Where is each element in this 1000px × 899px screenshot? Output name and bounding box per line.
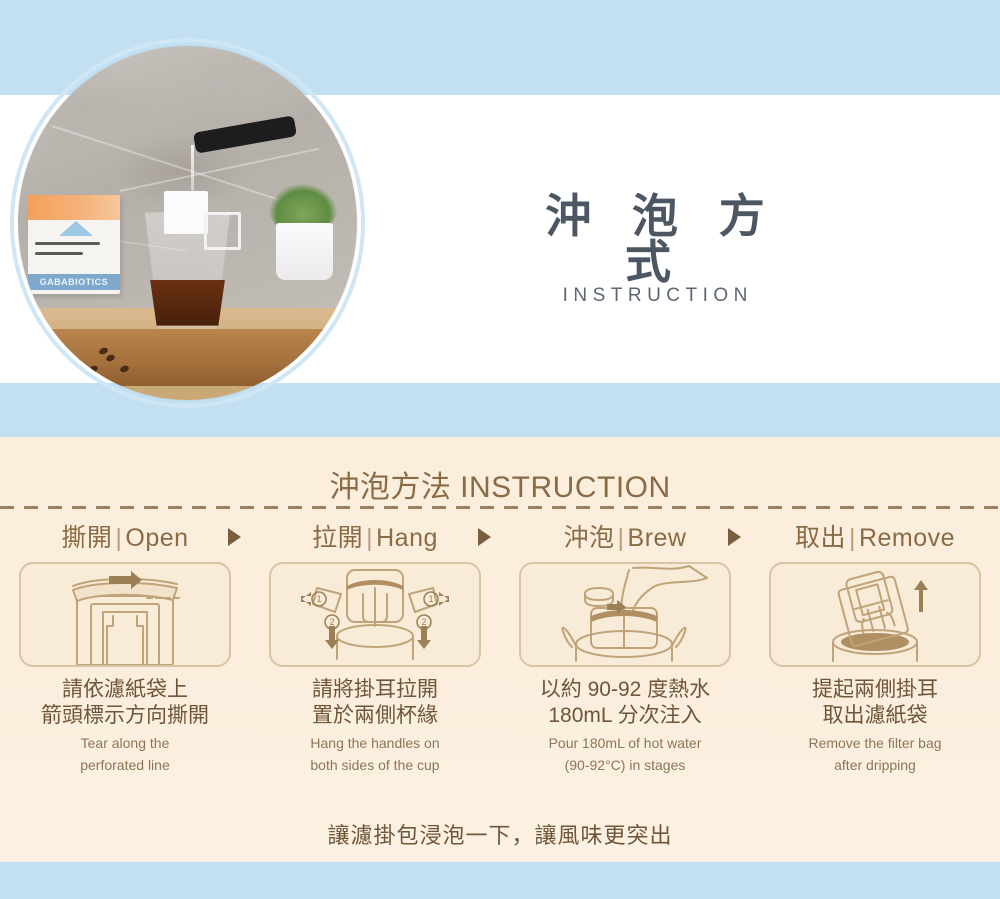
step-hang-caption-zh-1: 請將掛耳拉開	[310, 677, 439, 703]
step-hang: 拉開|Hang	[250, 518, 500, 808]
step-divider: |	[615, 524, 628, 552]
step-brew-header: 沖泡|Brew	[564, 518, 687, 558]
step-remove-caption-en-2: after dripping	[808, 756, 941, 774]
step-remove-label-zh: 取出	[795, 524, 846, 552]
tear-open-icon	[19, 562, 231, 667]
page-title: 沖 泡 方 式	[495, 193, 815, 285]
step-divider: |	[112, 524, 125, 552]
step-brew: 沖泡|Brew	[500, 518, 750, 808]
step-open-caption-en-2: perforated line	[41, 756, 209, 774]
step-open-caption: 請依濾紙袋上 箭頭標示方向撕開 Tear along the perforate…	[41, 677, 209, 774]
remove-bag-icon	[769, 562, 981, 667]
step-brew-caption-zh-1: 以約 90-92 度熱水	[540, 677, 710, 703]
step-brew-caption-en-1: Pour 180mL of hot water	[540, 734, 710, 752]
page-root: GABABIOTICS 沖 泡 方 式 INSTRUCTION 沖泡方法 INS…	[0, 0, 1000, 899]
hero-photo: GABABIOTICS	[10, 38, 365, 408]
step-hang-label-en: Hang	[376, 524, 438, 552]
step-open-label-en: Open	[125, 524, 188, 552]
step-remove-caption: 提起兩側掛耳 取出濾紙袋 Remove the filter bag after…	[808, 677, 941, 774]
step-brew-caption-en-2: (90-92°C) in stages	[540, 756, 710, 774]
hero-photo-ring	[10, 38, 365, 408]
step-hang-caption: 請將掛耳拉開 置於兩側杯緣 Hang the handles on both s…	[310, 677, 439, 774]
step-brew-caption: 以約 90-92 度熱水 180mL 分次注入 Pour 180mL of ho…	[540, 677, 710, 774]
svg-text:1: 1	[428, 594, 433, 604]
footer-note: 讓濾掛包浸泡一下，讓風味更突出	[0, 818, 1000, 850]
step-remove-label-en: Remove	[859, 524, 955, 552]
bottom-blue-band	[0, 862, 1000, 899]
step-brew-label-zh: 沖泡	[564, 524, 615, 552]
page-subtitle: INSTRUCTION	[495, 285, 815, 307]
step-open-caption-en-1: Tear along the	[41, 734, 209, 752]
step-open-label-zh: 撕開	[61, 524, 112, 552]
step-open-caption-zh-1: 請依濾紙袋上	[41, 677, 209, 703]
perforated-divider	[0, 506, 1000, 509]
step-hang-header: 拉開|Hang	[312, 518, 438, 558]
step-remove-caption-zh-2: 取出濾紙袋	[808, 703, 941, 729]
svg-text:2: 2	[329, 617, 334, 627]
step-hang-caption-en-1: Hang the handles on	[310, 734, 439, 752]
step-hang-label-zh: 拉開	[312, 524, 363, 552]
step-divider: |	[846, 524, 859, 552]
pour-water-icon	[519, 562, 731, 667]
step-remove: 取出|Remove	[750, 518, 1000, 808]
step-open: 撕開|Open 請依濾紙袋上	[0, 518, 250, 808]
step-divider: |	[363, 524, 376, 552]
instruction-heading: 沖泡方法 INSTRUCTION	[0, 462, 1000, 506]
step-brew-label-en: Brew	[628, 524, 687, 552]
hang-handles-icon: 11 22	[269, 562, 481, 667]
step-remove-caption-zh-1: 提起兩側掛耳	[808, 677, 941, 703]
steps-row: 撕開|Open 請依濾紙袋上	[0, 518, 1000, 808]
step-remove-header: 取出|Remove	[795, 518, 955, 558]
svg-text:1: 1	[316, 594, 321, 604]
svg-text:2: 2	[421, 617, 426, 627]
step-hang-caption-zh-2: 置於兩側杯緣	[310, 703, 439, 729]
step-brew-caption-zh-2: 180mL 分次注入	[540, 703, 710, 729]
step-open-header: 撕開|Open	[61, 518, 188, 558]
step-open-caption-zh-2: 箭頭標示方向撕開	[41, 703, 209, 729]
step-hang-caption-en-2: both sides of the cup	[310, 756, 439, 774]
step-remove-caption-en-1: Remove the filter bag	[808, 734, 941, 752]
